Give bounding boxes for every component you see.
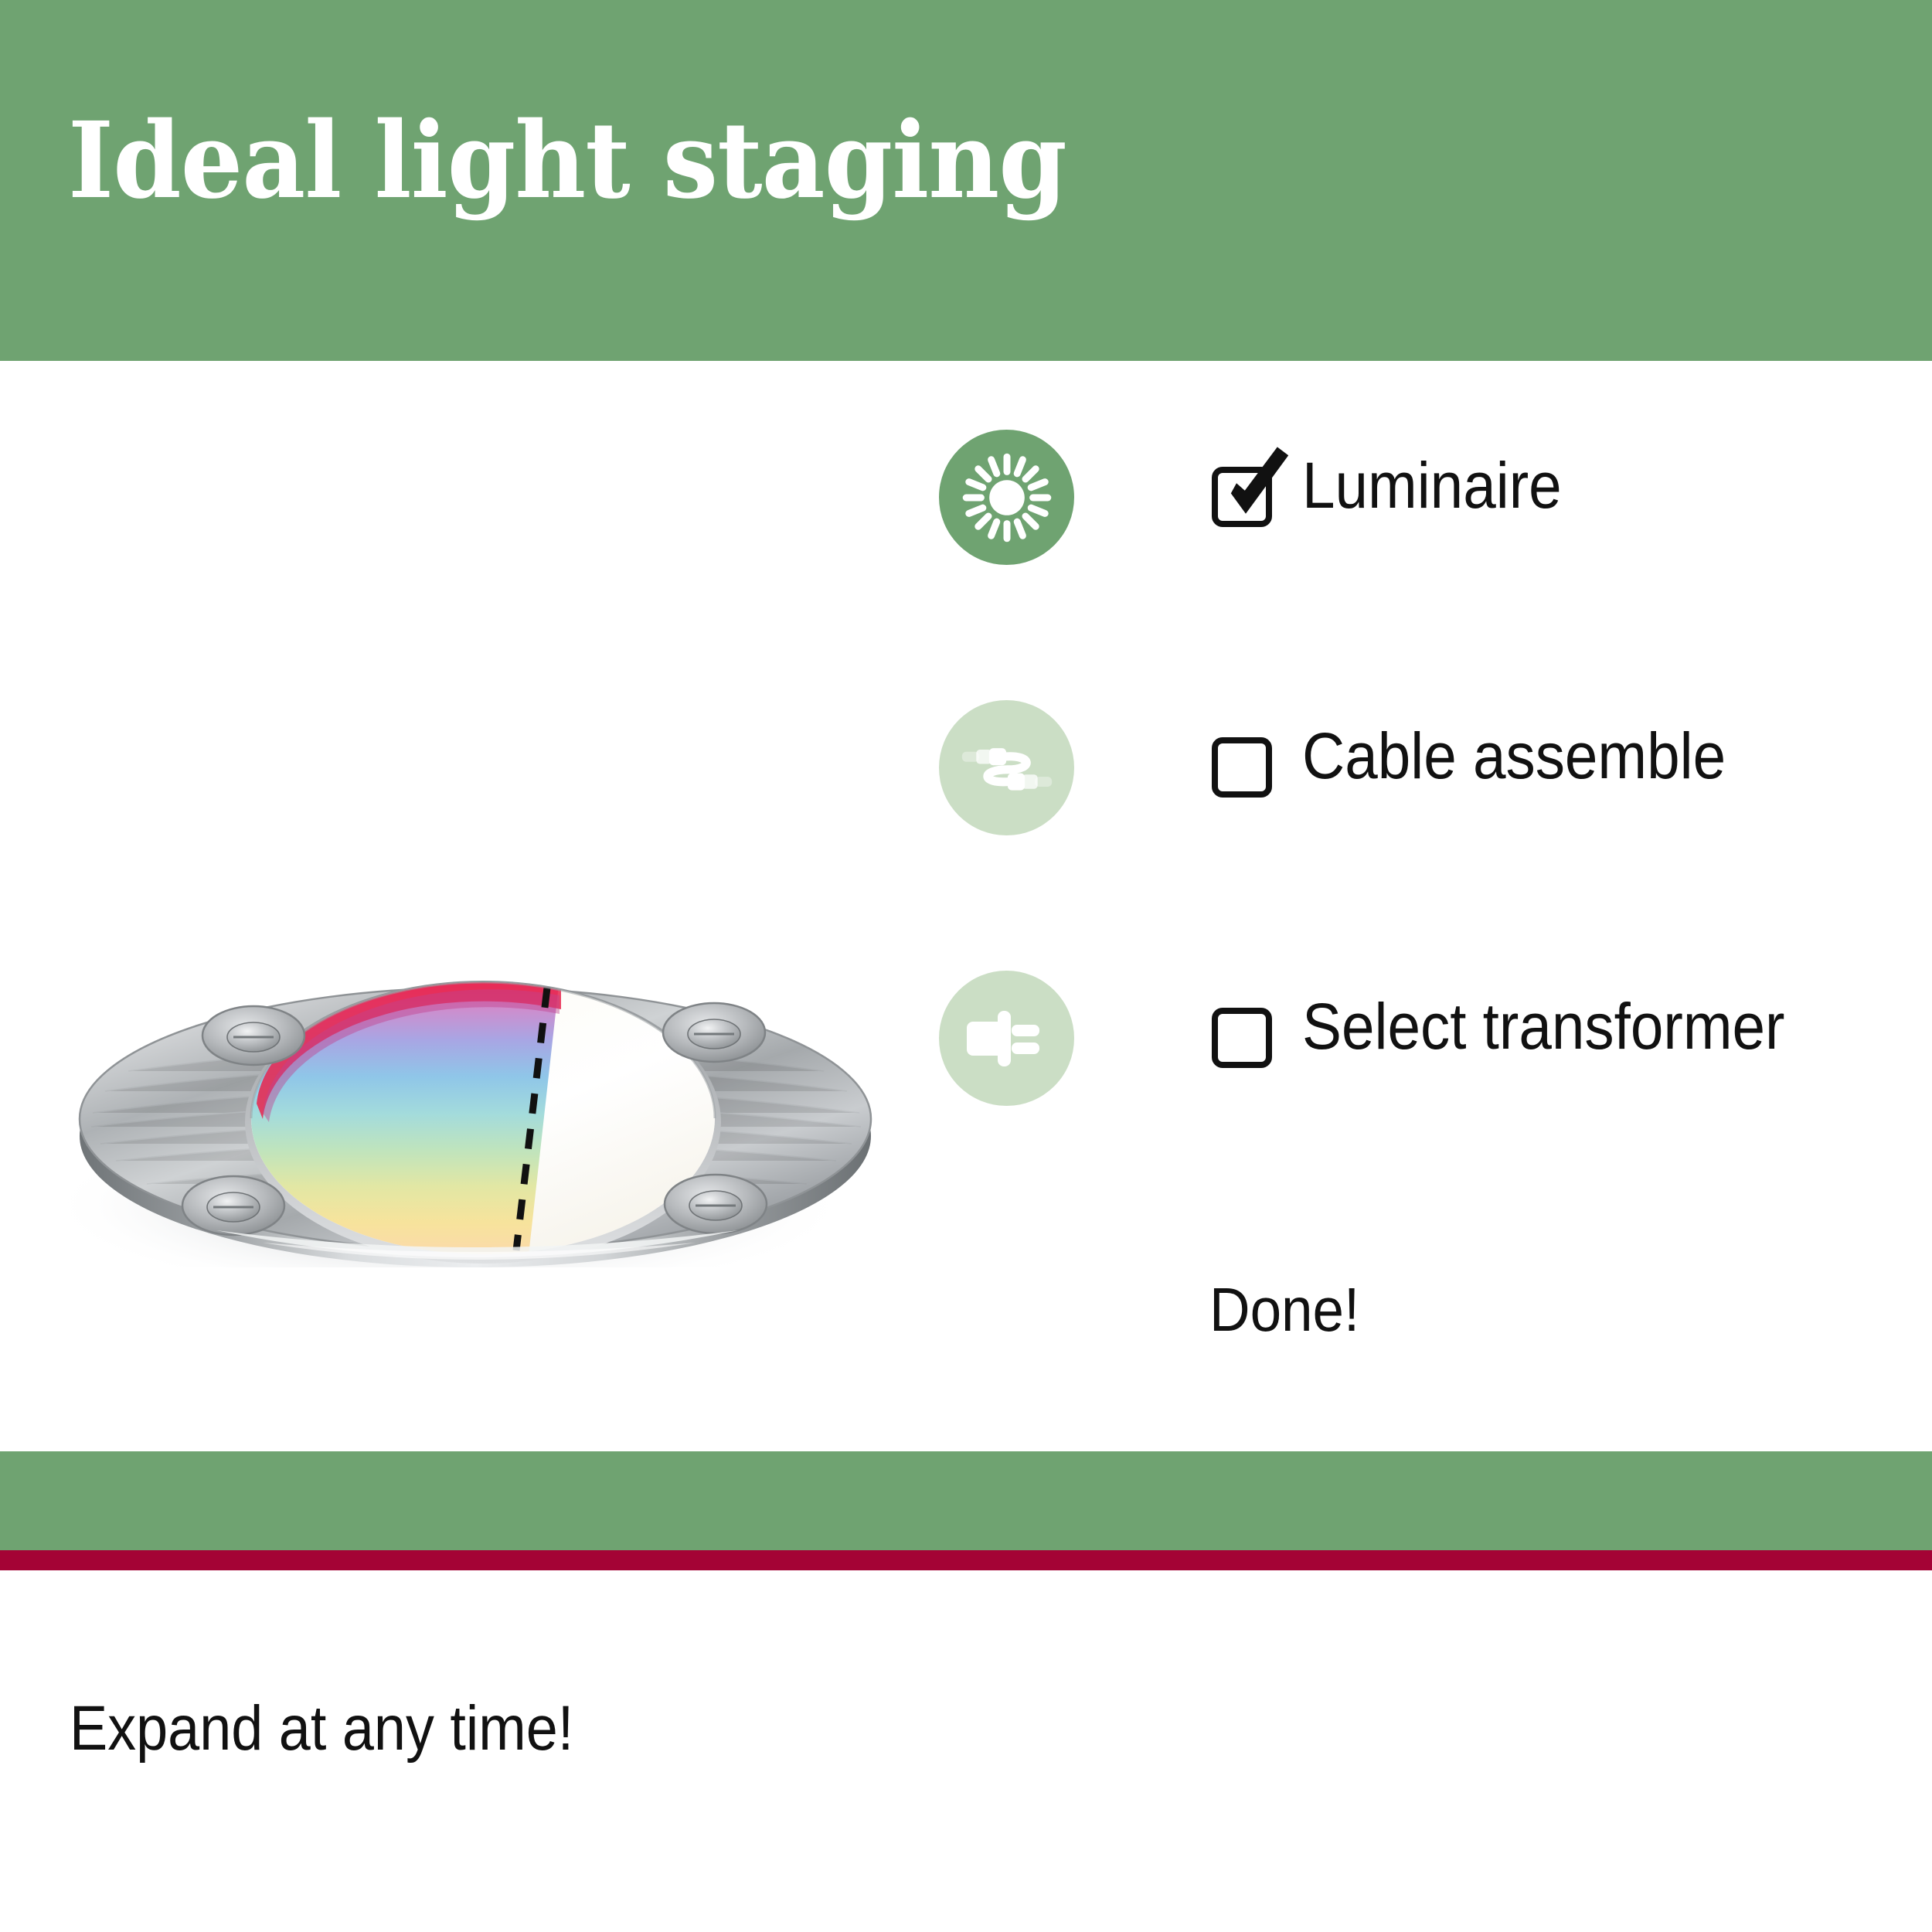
checklist-label-select-transformer: Select transformer [1302, 994, 1784, 1059]
checkbox-select-transformer[interactable] [1212, 1008, 1272, 1068]
done-text: Done! [1209, 1279, 1359, 1341]
plug-icon-circle [939, 971, 1074, 1106]
checkbox-luminaire[interactable] [1212, 467, 1272, 527]
checklist: Luminaire [939, 430, 1913, 1241]
product-image-recessed-floor-luminaire [31, 881, 943, 1267]
slide-canvas: Ideal light staging [0, 0, 1932, 1932]
cable-icon-circle [939, 700, 1074, 835]
checklist-row-select-transformer[interactable]: Select transformer [939, 971, 1913, 1106]
checklist-label-luminaire: Luminaire [1302, 453, 1562, 518]
sun-icon-circle [939, 430, 1074, 565]
page-title: Ideal light staging [68, 108, 1066, 213]
checklist-row-cable-assemble[interactable]: Cable assemble [939, 700, 1913, 835]
checklist-label-cable-assemble: Cable assemble [1302, 723, 1726, 788]
plug-icon [961, 992, 1053, 1085]
checkbox-box [1212, 737, 1272, 798]
checkbox-cable-assemble[interactable] [1212, 737, 1272, 798]
footer-note: Expand at any time! [70, 1697, 573, 1760]
checklist-row-luminaire[interactable]: Luminaire [939, 430, 1913, 565]
cable-icon [961, 722, 1053, 815]
footer-band-green [0, 1451, 1932, 1550]
checkbox-box [1212, 1008, 1272, 1068]
checkbox-box [1212, 467, 1272, 527]
sun-icon [961, 451, 1053, 544]
footer-band-red [0, 1550, 1932, 1570]
